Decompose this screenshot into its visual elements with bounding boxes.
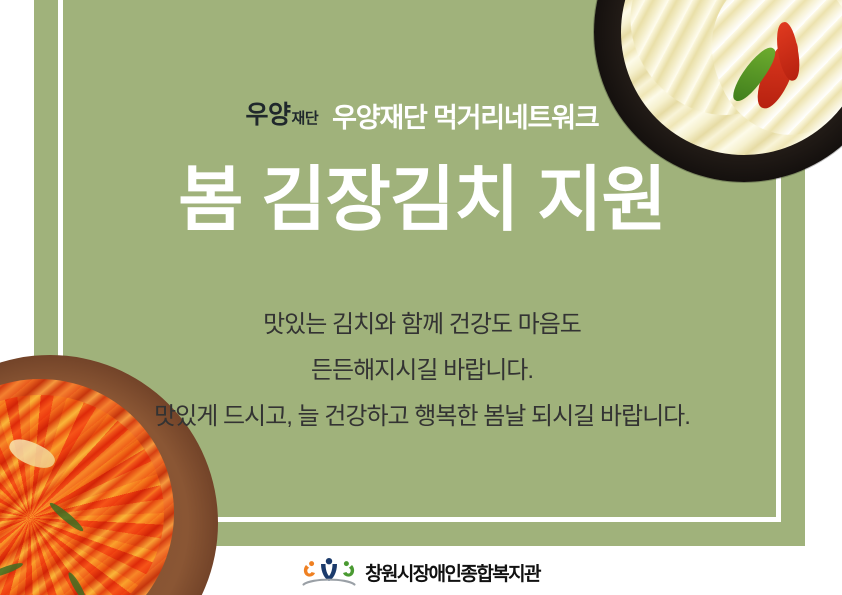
organization-row: 우양 재단 우양재단 먹거리네트워크 [58,96,786,135]
footer-organization-name: 창원시장애인종합복지관 [365,559,540,586]
body-line: 맛있는 김치와 함께 건강도 마음도 [58,302,786,348]
poster: 우양 재단 우양재단 먹거리네트워크 봄 김장김치 지원 맛있는 김치와 함께 … [0,0,842,595]
body-line: 든든해지시길 바랍니다. [58,348,786,394]
wooyang-foundation-logo: 우양 재단 [246,103,319,128]
poster-content: 우양 재단 우양재단 먹거리네트워크 봄 김장김치 지원 맛있는 김치와 함께 … [58,0,786,546]
organization-name: 우양재단 먹거리네트워크 [332,96,598,135]
three-figures-icon [302,557,356,587]
wooyang-logo-sub: 재단 [292,111,319,126]
footer-logo: 창원시장애인종합복지관 [0,557,842,587]
page-title: 봄 김장김치 지원 [58,163,786,238]
body-line: 맛있게 드시고, 늘 건강하고 행복한 봄날 되시길 바랍니다. [58,394,786,440]
body-message: 맛있는 김치와 함께 건강도 마음도 든든해지시길 바랍니다. 맛있게 드시고,… [58,302,786,440]
wooyang-logo-main: 우양 [246,103,291,128]
